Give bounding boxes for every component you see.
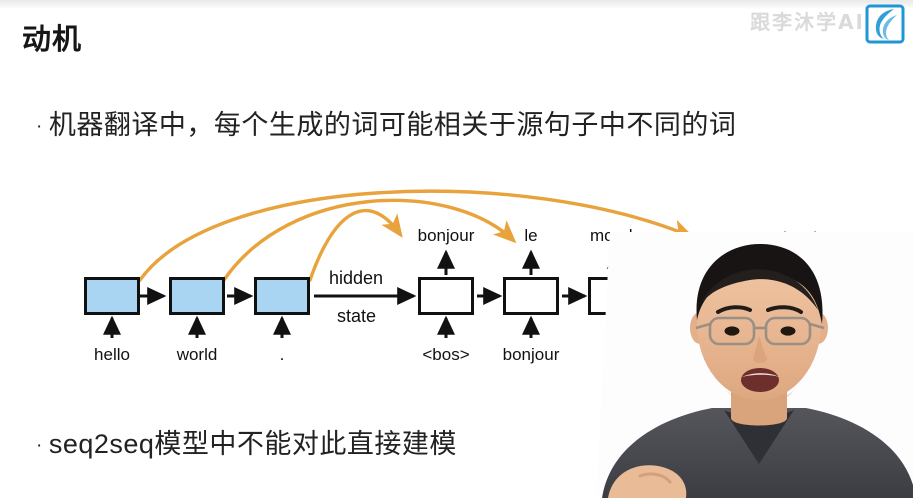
presenter-video-overlay[interactable]: [596, 232, 913, 498]
encoder-cell-2: [169, 277, 225, 315]
decoder-output-label-le: le: [493, 226, 569, 246]
encoder-input-label-hello: hello: [84, 345, 140, 365]
encoder-cell-1: [84, 277, 140, 315]
presentation-slide: 动机 跟李沐学AI ·机器翻译中，每个生成的词可能相关于源句子中不同的词 ·se…: [0, 0, 913, 498]
decoder-input-label-bonjour: bonjour: [493, 345, 569, 365]
encoder-input-label-period: .: [254, 345, 310, 365]
presenter-avatar: [596, 232, 913, 498]
encoder-input-label-world: world: [169, 345, 225, 365]
encoder-input-arrows: [112, 318, 282, 338]
hidden-state-label-line2: state: [337, 306, 376, 327]
decoder-input-label-bos: <bos>: [408, 345, 484, 365]
decoder-cell-1: [418, 277, 474, 315]
encoder-cell-3: [254, 277, 310, 315]
hidden-state-label-line1: hidden: [329, 268, 383, 289]
decoder-output-label-bonjour: bonjour: [408, 226, 484, 246]
decoder-cell-2: [503, 277, 559, 315]
